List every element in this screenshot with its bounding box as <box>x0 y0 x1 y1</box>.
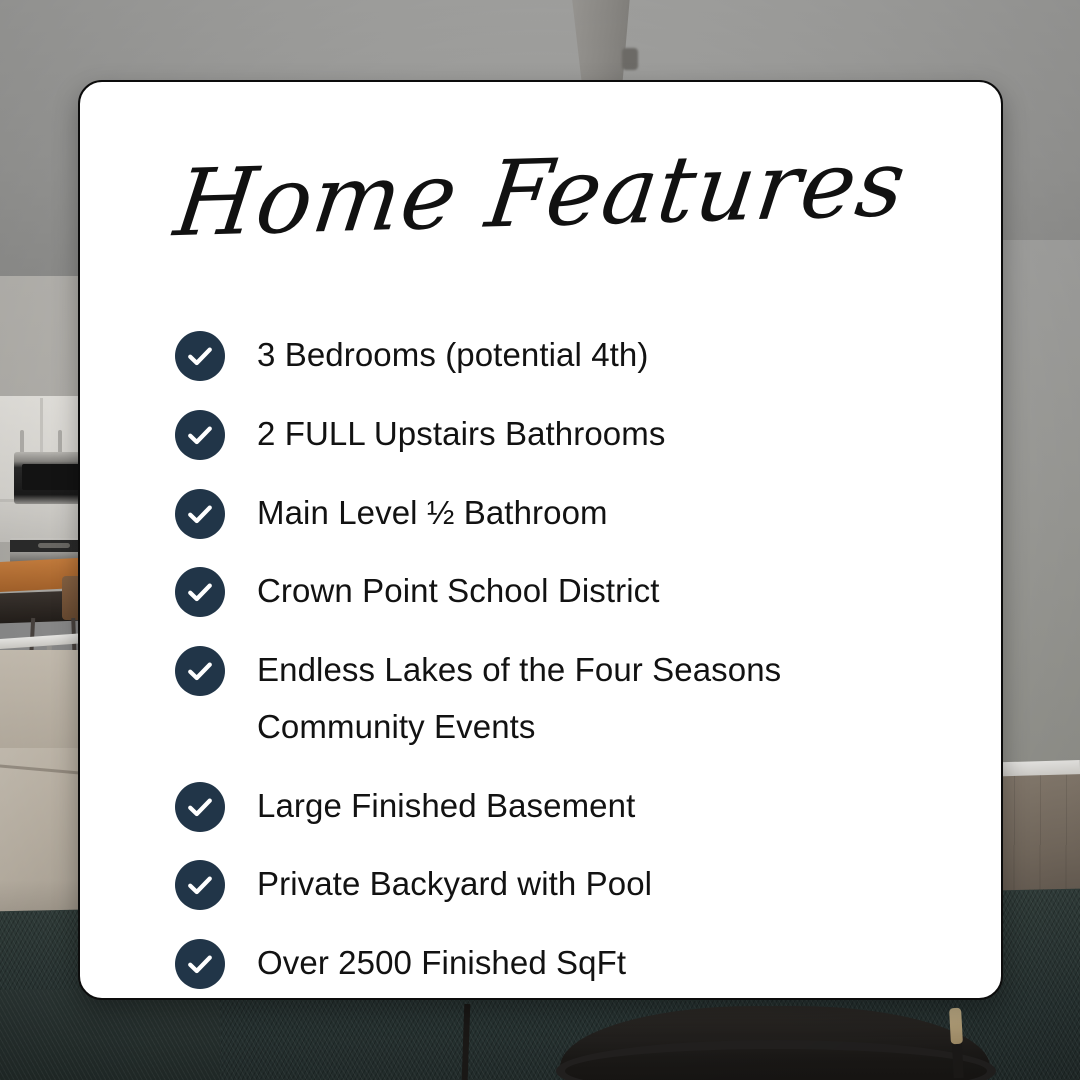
check-circle-icon <box>175 567 225 617</box>
feature-card: Home Features 3 Bedrooms (potential 4th)… <box>78 80 1003 1000</box>
features-list: 3 Bedrooms (potential 4th) 2 FULL Upstai… <box>175 327 955 992</box>
check-circle-icon <box>175 646 225 696</box>
check-circle-icon <box>175 489 225 539</box>
check-circle-icon <box>175 410 225 460</box>
check-circle-icon <box>175 782 225 832</box>
list-item: Private Backyard with Pool <box>175 856 955 913</box>
feature-label: Endless Lakes of the Four Seasons Commun… <box>257 642 955 756</box>
page-title: Home Features <box>78 135 1003 253</box>
list-item: 2 FULL Upstairs Bathrooms <box>175 406 955 463</box>
list-item: Crown Point School District <box>175 563 955 620</box>
list-item: Large Finished Basement <box>175 778 955 835</box>
feature-label: 2 FULL Upstairs Bathrooms <box>257 406 665 463</box>
list-item: 3 Bedrooms (potential 4th) <box>175 327 955 384</box>
feature-label: 3 Bedrooms (potential 4th) <box>257 327 648 384</box>
feature-label: Crown Point School District <box>257 563 660 620</box>
check-circle-icon <box>175 331 225 381</box>
feature-label: Over 2500 Finished SqFt <box>257 935 626 992</box>
feature-label: Main Level ½ Bathroom <box>257 485 608 542</box>
check-circle-icon <box>175 939 225 989</box>
check-circle-icon <box>175 860 225 910</box>
feature-label: Private Backyard with Pool <box>257 856 652 913</box>
feature-label: Large Finished Basement <box>257 778 635 835</box>
list-item: Endless Lakes of the Four Seasons Commun… <box>175 642 955 756</box>
list-item: Main Level ½ Bathroom <box>175 485 955 542</box>
list-item: Over 2500 Finished SqFt <box>175 935 955 992</box>
